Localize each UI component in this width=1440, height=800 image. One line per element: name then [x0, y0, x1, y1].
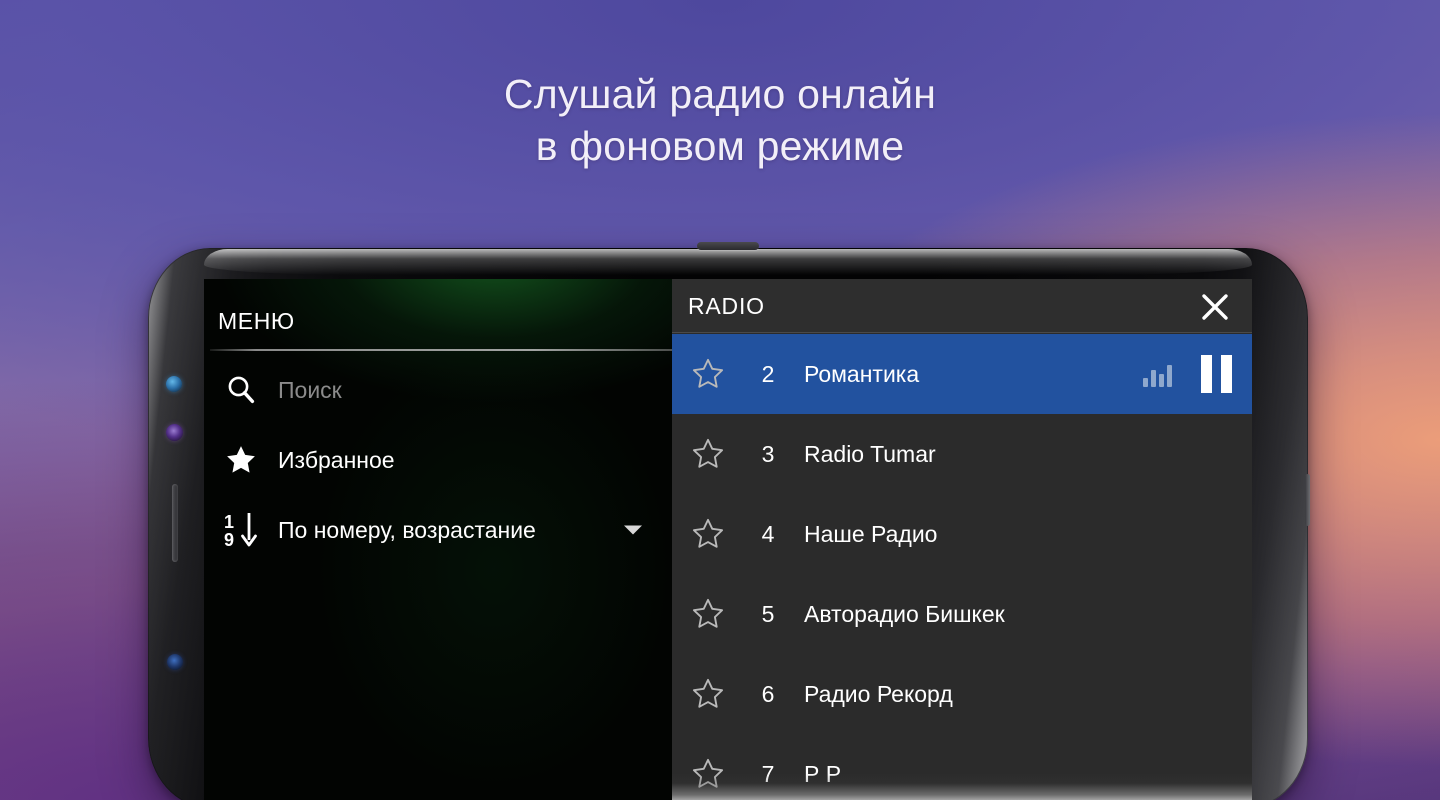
search-input[interactable]: Поиск — [278, 377, 342, 404]
headline-line-1: Слушай радио онлайн — [504, 71, 936, 117]
screenshot-stage: Слушай радио онлайн в фоновом режиме МЕН… — [0, 0, 1440, 800]
star-outline-icon[interactable] — [672, 676, 744, 712]
sort-numeric-ascending-icon: 1 9 — [204, 511, 278, 549]
station-name: Авторадио Бишкек — [792, 601, 1252, 628]
iris-sensor-icon — [166, 424, 183, 441]
station-number: 5 — [744, 601, 792, 628]
panel-title: RADIO — [688, 293, 765, 320]
menu-item-sort-label: По номеру, возрастание — [278, 517, 536, 544]
menu-item-sort[interactable]: 1 9 По номеру, возрастание — [204, 495, 672, 565]
station-row[interactable]: 7Р Р — [672, 734, 1252, 800]
sort-icon-digit-bottom: 9 — [224, 531, 234, 549]
search-icon — [204, 373, 278, 407]
menu-drawer-title: МЕНЮ — [218, 308, 295, 335]
station-row[interactable]: 6Радио Рекорд — [672, 654, 1252, 734]
menu-divider — [210, 349, 672, 351]
station-name: Романтика — [792, 361, 1134, 388]
star-filled-icon — [204, 443, 278, 477]
menu-drawer: МЕНЮ Поиск — [204, 279, 672, 800]
menu-item-search[interactable]: Поиск — [204, 355, 672, 425]
volume-key[interactable] — [172, 484, 178, 562]
power-key[interactable] — [1305, 474, 1310, 526]
panel-header: RADIO — [672, 279, 1252, 333]
station-list[interactable]: 2Романтика3Radio Tumar4Наше Радио5Автора… — [672, 334, 1252, 800]
star-outline-icon[interactable] — [672, 756, 744, 792]
station-row[interactable]: 4Наше Радио — [672, 494, 1252, 574]
proximity-sensor-icon — [167, 654, 183, 670]
menu-item-favorites[interactable]: Избранное — [204, 425, 672, 495]
station-name: Радио Рекорд — [792, 681, 1252, 708]
sort-icon-digit-top: 1 — [224, 513, 234, 531]
station-number: 4 — [744, 521, 792, 548]
star-outline-icon[interactable] — [672, 516, 744, 552]
station-name: Radio Tumar — [792, 441, 1252, 468]
station-name: Наше Радио — [792, 521, 1252, 548]
station-number: 2 — [744, 361, 792, 388]
menu-item-favorites-label: Избранное — [278, 447, 395, 474]
headline-line-2: в фоновом режиме — [0, 120, 1440, 172]
star-outline-icon[interactable] — [672, 356, 744, 392]
station-row[interactable]: 5Авторадио Бишкек — [672, 574, 1252, 654]
close-icon[interactable] — [1196, 288, 1234, 326]
station-number: 6 — [744, 681, 792, 708]
station-number: 7 — [744, 761, 792, 788]
star-outline-icon[interactable] — [672, 596, 744, 632]
equalizer-icon — [1134, 361, 1180, 387]
earpiece-speaker — [697, 242, 759, 250]
chevron-down-icon[interactable] — [624, 526, 642, 535]
star-outline-icon[interactable] — [672, 436, 744, 472]
radio-list-panel: RADIO 2Романтика3Radio Tumar4Наше Радио5… — [672, 279, 1252, 800]
station-row[interactable]: 2Романтика — [672, 334, 1252, 414]
phone-mockup: МЕНЮ Поиск — [148, 248, 1308, 800]
station-name: Р Р — [792, 761, 1252, 788]
page-title: Слушай радио онлайн в фоновом режиме — [0, 68, 1440, 173]
front-camera-icon — [166, 376, 182, 392]
station-number: 3 — [744, 441, 792, 468]
pause-icon[interactable] — [1180, 355, 1252, 393]
phone-screen: МЕНЮ Поиск — [204, 279, 1252, 800]
station-row[interactable]: 3Radio Tumar — [672, 414, 1252, 494]
